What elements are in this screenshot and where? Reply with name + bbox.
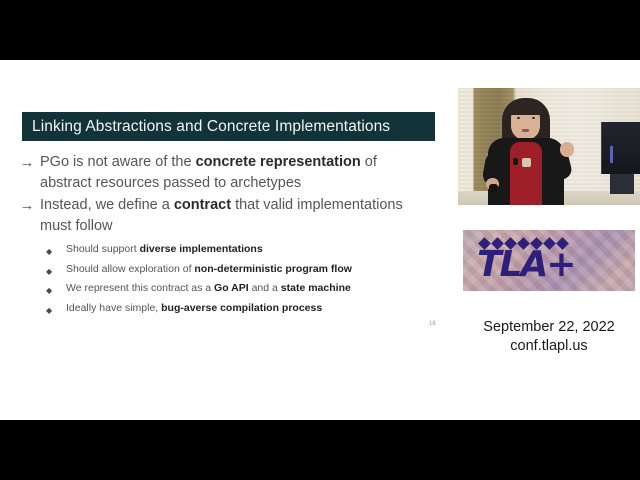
arrow-right-icon: → (14, 195, 40, 216)
speaker-video (458, 88, 640, 205)
presentation-clicker (489, 184, 498, 192)
letterbox-top-bar (0, 0, 640, 60)
monitor-stand (610, 174, 634, 194)
letterbox-bottom-bar (0, 420, 640, 480)
monitor-glow (610, 146, 613, 163)
slide-body: → PGo is not aware of the concrete repre… (14, 152, 444, 320)
presenter (484, 96, 576, 205)
presenter-shirt (510, 142, 542, 205)
presenter-hand-right (560, 142, 574, 157)
presenter-fringe (508, 100, 543, 115)
slide-subbullet-list: ◆ Should support diverse implementations… (46, 242, 444, 318)
slide-subbullet-item: ◆ Should allow exploration of non-determ… (46, 262, 444, 279)
event-url: conf.tlapl.us (458, 337, 640, 356)
slide-bullet-item: → Instead, we define a contract that val… (14, 195, 444, 236)
slide-subbullet-item: ◆ We represent this contract as a Go API… (46, 281, 444, 298)
diamond-bullet-icon: ◆ (46, 242, 66, 259)
arrow-right-icon: → (14, 152, 40, 173)
presenter-eye-right (532, 117, 535, 119)
slide-subbullet-text: Should support diverse implementations (66, 242, 263, 257)
stage-monitor (601, 122, 640, 174)
slide-subbullet-text: Should allow exploration of non-determin… (66, 262, 352, 277)
diamond-bullet-icon: ◆ (46, 281, 66, 298)
slide-title: Linking Abstractions and Concrete Implem… (22, 118, 390, 136)
slide-title-banner: Linking Abstractions and Concrete Implem… (22, 112, 435, 141)
tla-plus-logo: TLA+ (463, 230, 635, 291)
video-player-frame: Linking Abstractions and Concrete Implem… (0, 0, 640, 480)
slide-bullet-item: → PGo is not aware of the concrete repre… (14, 152, 444, 193)
lapel-microphone (513, 158, 518, 165)
diamond-bullet-icon: ◆ (46, 301, 66, 318)
slide-subbullet-text: We represent this contract as a Go API a… (66, 281, 351, 296)
presenter-eye-left (517, 117, 520, 119)
right-column: TLA+ September 22, 2022 conf.tlapl.us (458, 60, 640, 420)
presenter-shirt-logo (522, 158, 531, 167)
slide-number: 18 (429, 321, 436, 327)
slide-subbullet-item: ◆ Ideally have simple, bug-averse compil… (46, 301, 444, 318)
slide-subbullet-text: Ideally have simple, bug-averse compilat… (66, 301, 322, 316)
presenter-mouth (522, 129, 529, 132)
slide-subbullet-item: ◆ Should support diverse implementations (46, 242, 444, 259)
presentation-slide: Linking Abstractions and Concrete Implem… (0, 60, 458, 420)
event-date: September 22, 2022 (458, 318, 640, 337)
diamond-bullet-icon: ◆ (46, 262, 66, 279)
event-footer: September 22, 2022 conf.tlapl.us (458, 318, 640, 356)
logo-wordmark: TLA+ (477, 246, 575, 284)
slide-bullet-text: Instead, we define a contract that valid… (40, 195, 430, 236)
video-content-area: Linking Abstractions and Concrete Implem… (0, 60, 640, 420)
slide-bullet-text: PGo is not aware of the concrete represe… (40, 152, 430, 193)
